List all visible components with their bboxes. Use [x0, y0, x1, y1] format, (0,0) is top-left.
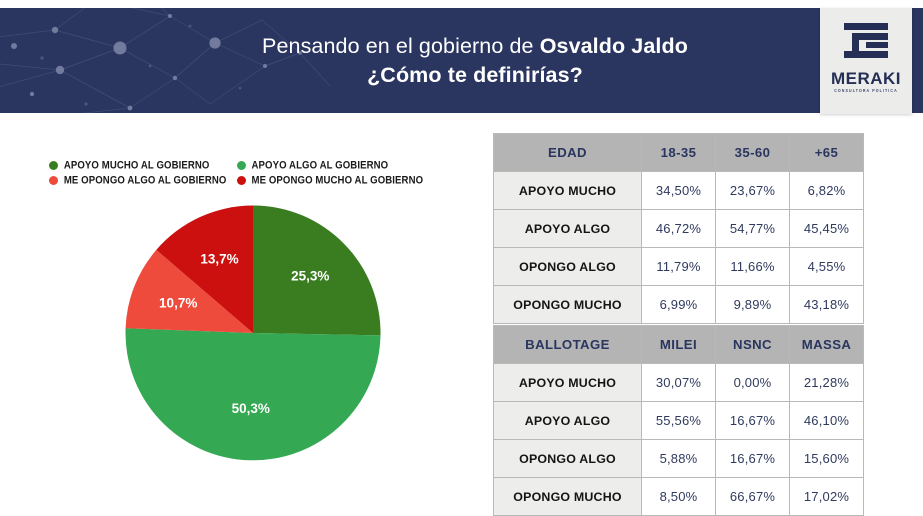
legend-color-swatch-icon	[237, 176, 246, 185]
table-row: APOYO MUCHO 34,50% 23,67% 6,82%	[494, 172, 864, 210]
column-header-65plus: +65	[790, 134, 864, 172]
meraki-emblem-icon	[840, 20, 892, 68]
row-label: OPONGO MUCHO	[494, 286, 642, 324]
table-cell: 46,10%	[790, 402, 864, 440]
row-label: APOYO MUCHO	[494, 364, 642, 402]
row-label: APOYO ALGO	[494, 210, 642, 248]
header-bar: Pensando en el gobierno de Osvaldo Jaldo…	[0, 8, 923, 113]
pie-slice-value-label: 50,3%	[232, 401, 270, 416]
column-header-nsnc: NSNC	[716, 326, 790, 364]
table-row: APOYO ALGO 46,72% 54,77% 45,45%	[494, 210, 864, 248]
row-label: OPONGO ALGO	[494, 248, 642, 286]
table-cell: 11,66%	[716, 248, 790, 286]
table-cell: 9,89%	[716, 286, 790, 324]
legend-label: APOYO MUCHO AL GOBIERNO	[64, 159, 210, 171]
table-header-row: EDAD 18-35 35-60 +65	[494, 134, 864, 172]
table-cell: 15,60%	[790, 440, 864, 478]
row-label: OPONGO MUCHO	[494, 478, 642, 516]
table-header-row: BALLOTAGE MILEI NSNC MASSA	[494, 326, 864, 364]
table-cell: 17,02%	[790, 478, 864, 516]
table-cell: 5,88%	[642, 440, 716, 478]
table-cell: 8,50%	[642, 478, 716, 516]
legend-label: APOYO ALGO AL GOBIERNO	[252, 159, 389, 171]
legend-label: ME OPONGO ALGO AL GOBIERNO	[64, 174, 227, 186]
page-title: Pensando en el gobierno de Osvaldo Jaldo…	[150, 8, 800, 113]
column-header-ballotage: BALLOTAGE	[494, 326, 642, 364]
table-cell: 0,00%	[716, 364, 790, 402]
table-row: OPONGO ALGO 5,88% 16,67% 15,60%	[494, 440, 864, 478]
table-cell: 6,99%	[642, 286, 716, 324]
table-cell: 11,79%	[642, 248, 716, 286]
table-ballotage: BALLOTAGE MILEI NSNC MASSA APOYO MUCHO 3…	[493, 325, 864, 516]
logo-subtitle: CONSULTORA POLITICA	[834, 90, 898, 94]
title-line-1: Pensando en el gobierno de Osvaldo Jaldo	[262, 32, 688, 60]
table-cell: 30,07%	[642, 364, 716, 402]
table-cell: 66,67%	[716, 478, 790, 516]
table-cell: 16,67%	[716, 440, 790, 478]
legend-color-swatch-icon	[49, 176, 58, 185]
legend-color-swatch-icon	[237, 161, 246, 170]
title-line-1-regular: Pensando en el gobierno de	[262, 34, 540, 58]
pie-chart: 25,3%50,3%10,7%13,7%	[125, 205, 381, 461]
table-cell: 55,56%	[642, 402, 716, 440]
table-row: APOYO ALGO 55,56% 16,67% 46,10%	[494, 402, 864, 440]
row-label: OPONGO ALGO	[494, 440, 642, 478]
column-header-35-60: 35-60	[716, 134, 790, 172]
meraki-logo: MERAKI CONSULTORA POLITICA	[820, 8, 912, 114]
title-line-2: ¿Cómo te definirías?	[367, 61, 583, 89]
legend-item-opongo-algo: ME OPONGO ALGO AL GOBIERNO	[49, 175, 227, 186]
table-row: OPONGO MUCHO 6,99% 9,89% 43,18%	[494, 286, 864, 324]
row-label: APOYO MUCHO	[494, 172, 642, 210]
table-row: OPONGO ALGO 11,79% 11,66% 4,55%	[494, 248, 864, 286]
table-cell: 4,55%	[790, 248, 864, 286]
legend-item-apoyo-algo: APOYO ALGO AL GOBIERNO	[237, 160, 424, 171]
pie-slice-value-label: 25,3%	[291, 268, 329, 283]
table-cell: 16,67%	[716, 402, 790, 440]
table-cell: 23,67%	[716, 172, 790, 210]
table-edad: EDAD 18-35 35-60 +65 APOYO MUCHO 34,50% …	[493, 133, 864, 324]
pie-chart-svg: 25,3%50,3%10,7%13,7%	[125, 205, 381, 461]
table-cell: 46,72%	[642, 210, 716, 248]
pie-chart-panel: APOYO MUCHO AL GOBIERNO APOYO ALGO AL GO…	[0, 118, 470, 507]
table-cell: 34,50%	[642, 172, 716, 210]
logo-wordmark: MERAKI	[831, 70, 901, 87]
table-cell: 45,45%	[790, 210, 864, 248]
column-header-milei: MILEI	[642, 326, 716, 364]
pie-slice	[126, 328, 381, 460]
row-label: APOYO ALGO	[494, 402, 642, 440]
table-row: APOYO MUCHO 30,07% 0,00% 21,28%	[494, 364, 864, 402]
pie-slice-value-label: 10,7%	[159, 295, 197, 310]
table-cell: 6,82%	[790, 172, 864, 210]
column-header-edad: EDAD	[494, 134, 642, 172]
column-header-18-35: 18-35	[642, 134, 716, 172]
column-header-massa: MASSA	[790, 326, 864, 364]
legend-item-apoyo-mucho: APOYO MUCHO AL GOBIERNO	[49, 160, 227, 171]
pie-slices	[126, 206, 381, 461]
title-line-1-bold: Osvaldo Jaldo	[540, 34, 688, 58]
legend-label: ME OPONGO MUCHO AL GOBIERNO	[252, 174, 424, 186]
legend-item-opongo-mucho: ME OPONGO MUCHO AL GOBIERNO	[237, 175, 424, 186]
pie-slice-value-label: 13,7%	[200, 252, 238, 267]
table-cell: 21,28%	[790, 364, 864, 402]
table-cell: 43,18%	[790, 286, 864, 324]
chart-legend: APOYO MUCHO AL GOBIERNO APOYO ALGO AL GO…	[26, 160, 446, 186]
table-row: OPONGO MUCHO 8,50% 66,67% 17,02%	[494, 478, 864, 516]
legend-color-swatch-icon	[49, 161, 58, 170]
table-cell: 54,77%	[716, 210, 790, 248]
